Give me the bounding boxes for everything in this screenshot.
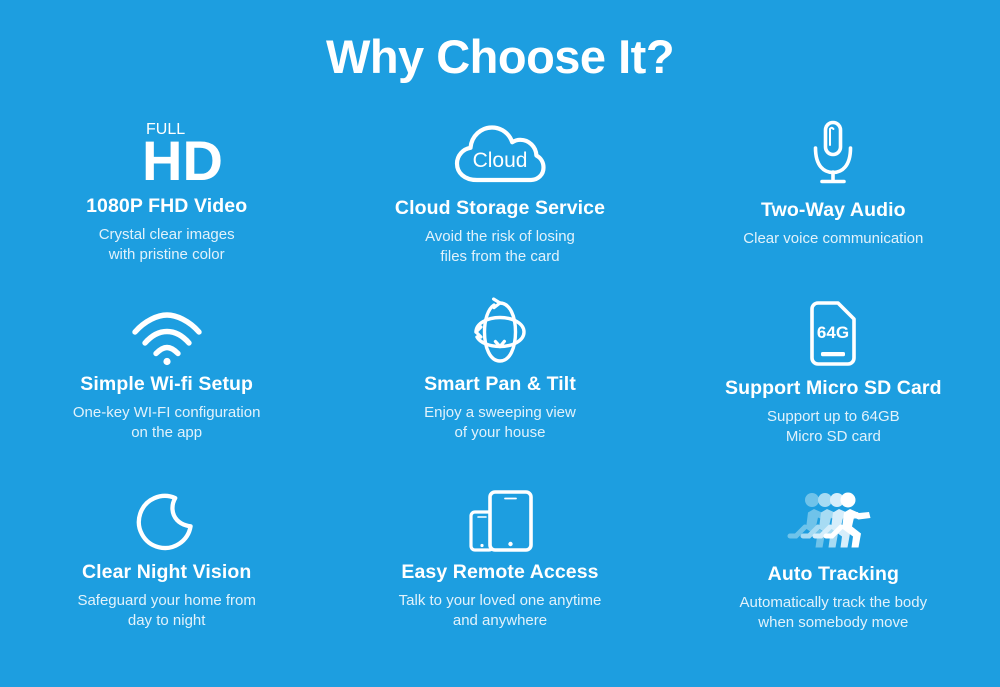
pan-tilt-icon bbox=[458, 290, 542, 366]
feature-card-clear-night-vision: Clear Night Vision Safeguard your home f… bbox=[0, 474, 333, 658]
feature-title: Auto Tracking bbox=[768, 562, 899, 586]
feature-description-line-1: Enjoy a sweeping view bbox=[424, 403, 576, 423]
feature-description: Clear voice communication bbox=[743, 229, 923, 249]
feature-description: Talk to your loved one anytime and anywh… bbox=[399, 591, 602, 631]
sd-card-icon: 64G bbox=[807, 290, 859, 366]
feature-title: Easy Remote Access bbox=[401, 560, 598, 584]
feature-description: Avoid the risk of losing files from the … bbox=[425, 227, 575, 267]
feature-description-line-1: Crystal clear images bbox=[99, 225, 235, 245]
feature-card-simple-wifi-setup: Simple Wi-fi Setup One-key WI-FI configu… bbox=[0, 290, 333, 474]
full-hd-icon: FULL HD bbox=[124, 106, 210, 186]
sd-card-icon-label: 64G bbox=[817, 323, 849, 342]
feature-description-line-2: day to night bbox=[77, 611, 255, 631]
devices-icon bbox=[461, 474, 539, 554]
feature-title: Support Micro SD Card bbox=[725, 376, 942, 400]
promo-page: Why Choose It? FULL HD 1080P FHD Video C… bbox=[0, 0, 1000, 687]
feature-description: One-key WI-FI configuration on the app bbox=[73, 403, 261, 443]
feature-title: Smart Pan & Tilt bbox=[424, 372, 576, 396]
feature-card-1080p-fhd-video: FULL HD 1080P FHD Video Crystal clear im… bbox=[0, 106, 333, 290]
feature-description-line-1: One-key WI-FI configuration bbox=[73, 403, 261, 423]
running-person-tracking-icon bbox=[792, 474, 874, 554]
cloud-icon: Cloud bbox=[453, 106, 547, 186]
feature-grid: FULL HD 1080P FHD Video Crystal clear im… bbox=[0, 106, 1000, 658]
feature-card-support-micro-sd-card: 64G Support Micro SD Card Support up to … bbox=[667, 290, 1000, 474]
feature-card-cloud-storage-service: Cloud Cloud Storage Service Avoid the ri… bbox=[333, 106, 666, 290]
feature-description: Automatically track the body when somebo… bbox=[740, 593, 928, 633]
feature-description-line-2: files from the card bbox=[425, 247, 575, 267]
feature-description: Support up to 64GB Micro SD card bbox=[767, 407, 900, 447]
feature-card-smart-pan-and-tilt: Smart Pan & Tilt Enjoy a sweeping view o… bbox=[333, 290, 666, 474]
feature-title: Clear Night Vision bbox=[82, 560, 251, 584]
wifi-icon bbox=[131, 290, 203, 366]
cloud-icon-label: Cloud bbox=[473, 149, 528, 172]
feature-description-line-1: Avoid the risk of losing bbox=[425, 227, 575, 247]
full-hd-icon-main-label: HD bbox=[142, 129, 223, 192]
feature-title: Simple Wi-fi Setup bbox=[80, 372, 253, 396]
feature-description-line-1: Safeguard your home from bbox=[77, 591, 255, 611]
feature-description-line-2: with pristine color bbox=[99, 245, 235, 265]
feature-description-line-2: and anywhere bbox=[399, 611, 602, 631]
feature-description-line-2: Micro SD card bbox=[767, 427, 900, 447]
feature-description-line-1: Talk to your loved one anytime bbox=[399, 591, 602, 611]
feature-title: Two-Way Audio bbox=[761, 198, 906, 222]
moon-icon bbox=[136, 474, 198, 554]
microphone-icon bbox=[807, 106, 859, 186]
feature-description-line-1: Support up to 64GB bbox=[767, 407, 900, 427]
feature-description: Crystal clear images with pristine color bbox=[99, 225, 235, 265]
feature-description-line-1: Clear voice communication bbox=[743, 229, 923, 249]
feature-description: Enjoy a sweeping view of your house bbox=[424, 403, 576, 443]
feature-card-easy-remote-access: Easy Remote Access Talk to your loved on… bbox=[333, 474, 666, 658]
feature-title: 1080P FHD Video bbox=[86, 194, 247, 218]
feature-description-line-1: Automatically track the body bbox=[740, 593, 928, 613]
page-title: Why Choose It? bbox=[0, 0, 1000, 84]
feature-title: Cloud Storage Service bbox=[395, 196, 605, 220]
feature-description-line-2: on the app bbox=[73, 423, 261, 443]
feature-description-line-2: when somebody move bbox=[740, 613, 928, 633]
feature-description-line-2: of your house bbox=[424, 423, 576, 443]
feature-card-auto-tracking: Auto Tracking Automatically track the bo… bbox=[667, 474, 1000, 658]
feature-card-two-way-audio: Two-Way Audio Clear voice communication bbox=[667, 106, 1000, 290]
feature-description: Safeguard your home from day to night bbox=[77, 591, 255, 631]
